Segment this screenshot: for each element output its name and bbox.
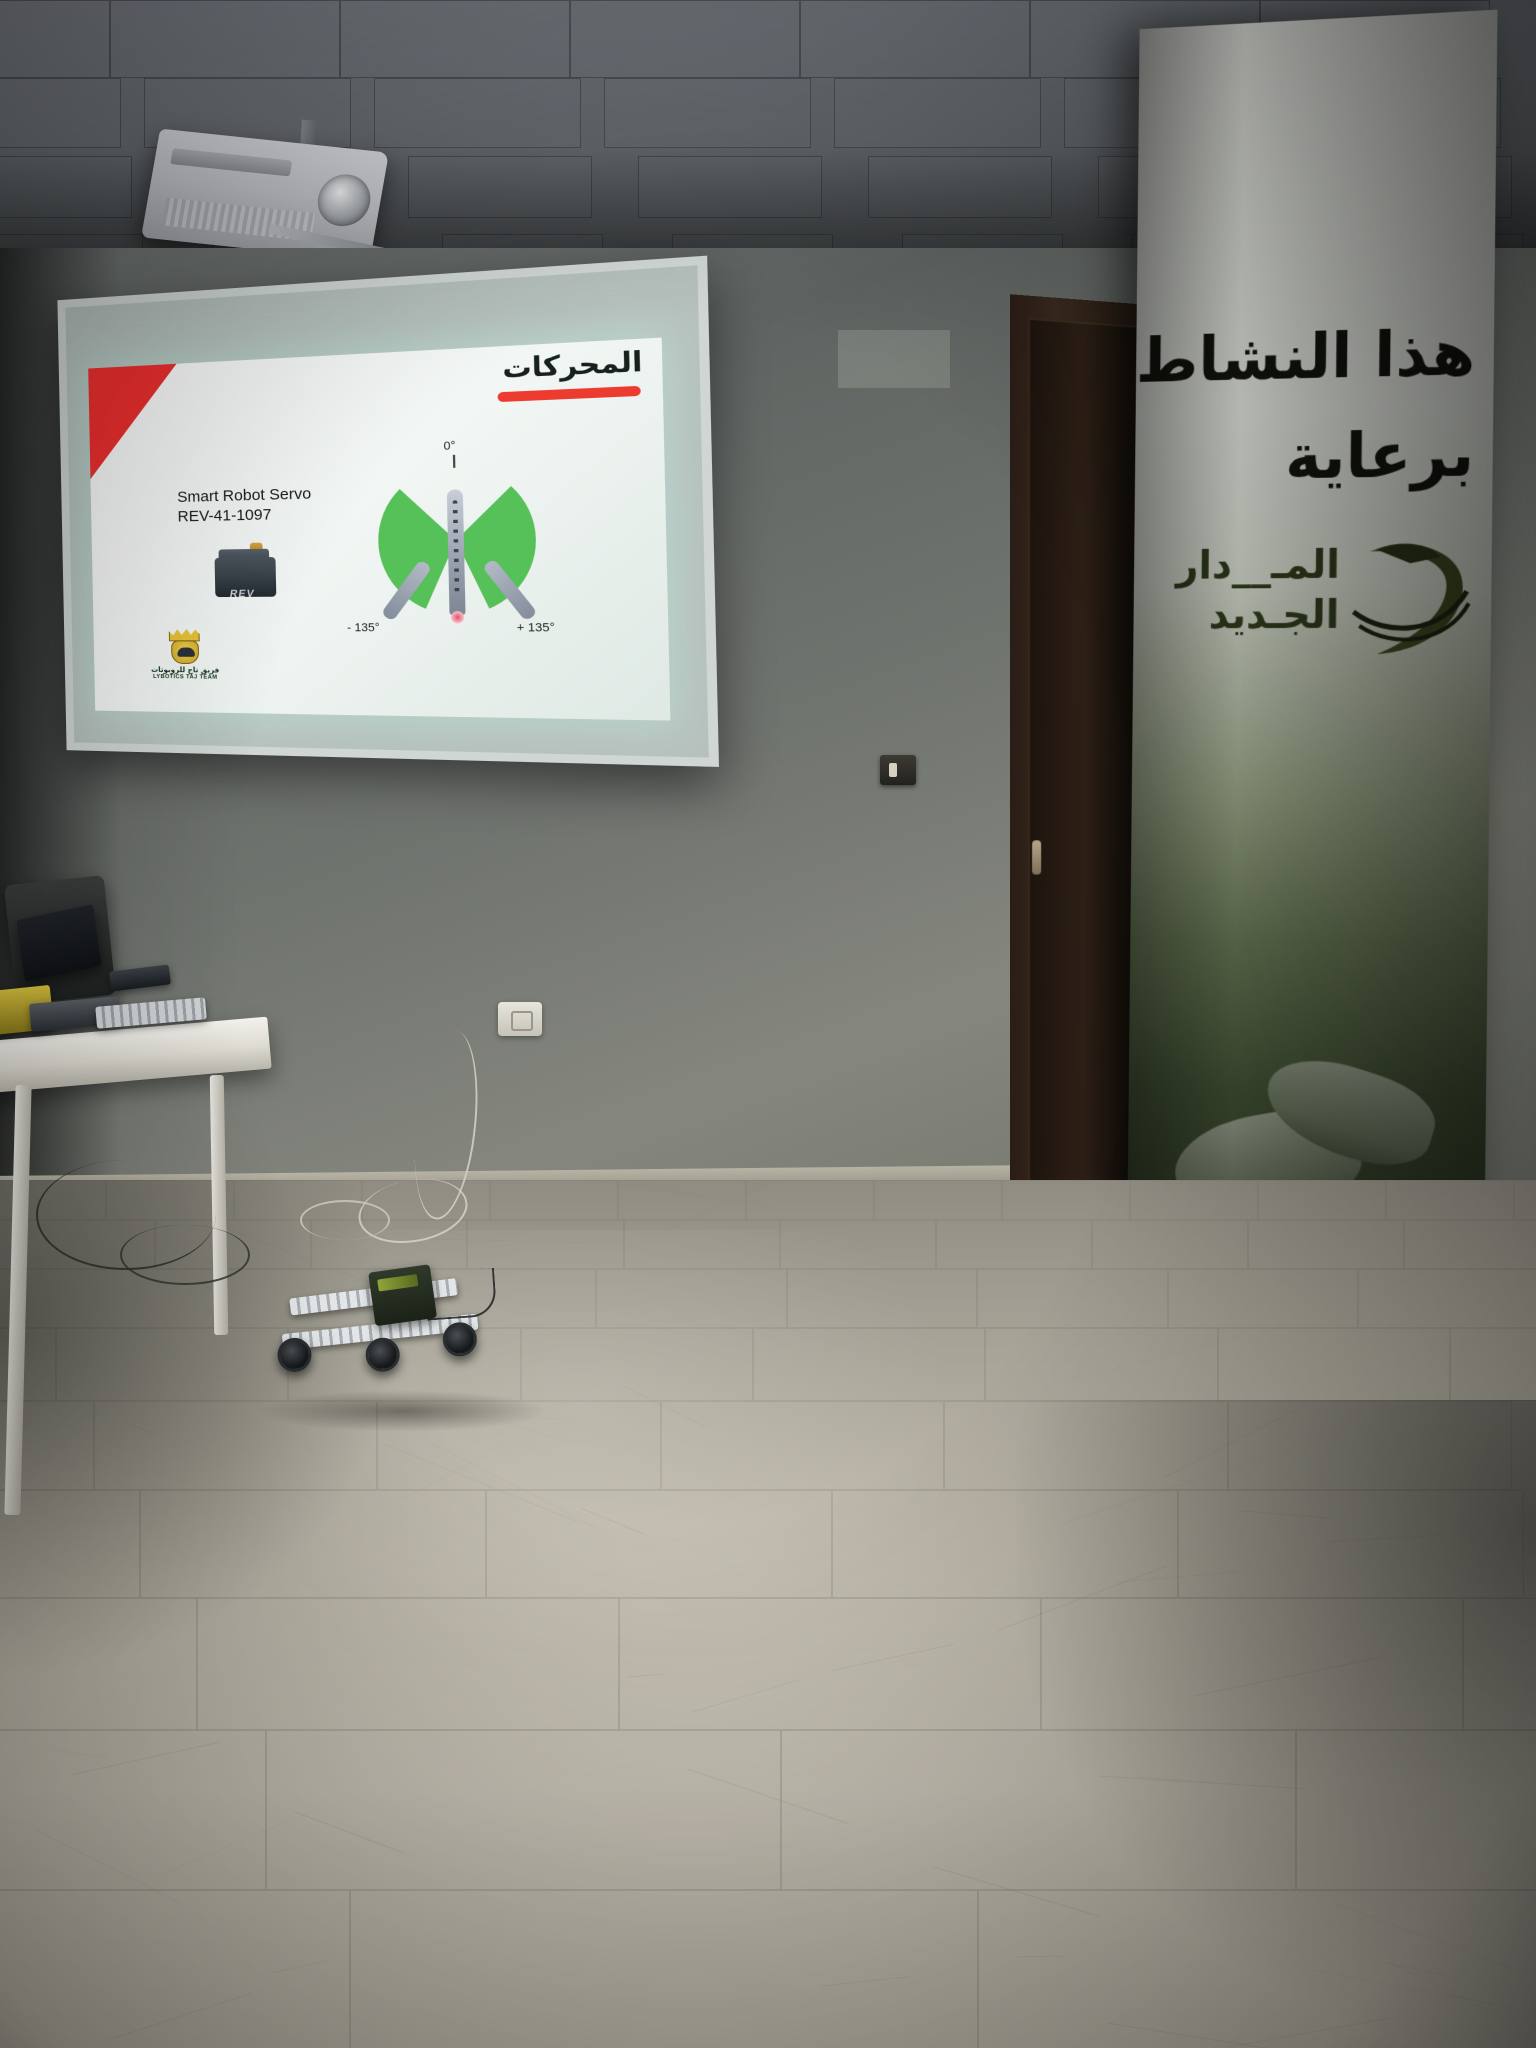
robot-chassis [274,1257,513,1403]
crown-badge-icon [171,640,199,664]
servo-horn-arm [447,489,466,615]
servo-motor-image: REV [208,542,285,603]
sponsor-name: المـ__دار الجـديد [1175,540,1340,640]
angle-label-zero: 0° [443,440,455,453]
banner-headline-line1: هذا النشاط [1136,315,1476,397]
wall-socket-icon [880,755,916,785]
marble-vein [69,1742,220,1776]
marble-vein [693,1679,801,1712]
marble-vein [156,1806,323,1877]
projection-screen: المحركات Smart Robot Servo REV-41-1097 R… [57,256,719,767]
marble-vein [823,1976,909,1986]
ceiling-tile [570,0,800,78]
sponsor-name-line1: المـ__دار [1176,540,1340,591]
sponsor-name-line2: الجـديد [1175,590,1339,640]
ceiling-tile [834,78,1041,148]
team-name-english: LYBOTICS TAJ TEAM [136,674,235,681]
zero-tick-icon [453,455,456,468]
ceiling-tile [110,0,340,78]
marble-vein [293,1811,404,1854]
marble-vein [51,1749,105,1758]
wall-access-plate [838,330,950,388]
swoosh-logo-icon [1349,532,1472,659]
slide-corner-decoration [88,364,179,479]
servo-axis-dot-icon [451,611,465,624]
marble-vein [629,1674,664,1678]
ceiling-tile [374,78,581,148]
servo-product-name: Smart Robot Servo [177,485,311,506]
slide-title-underline [498,386,641,402]
angle-label-negative: - 135° [347,622,380,635]
screen-surface: المحركات Smart Robot Servo REV-41-1097 R… [65,265,708,757]
servo-product-code: REV-41-1097 [177,505,311,527]
ceiling-tile [604,78,811,148]
sponsor-logo-block: المـ__دار الجـديد [1133,538,1492,680]
banner-headline-line2: برعاية [1285,417,1475,494]
floor-shadow-right [1016,1400,1536,2048]
door-panel [1028,318,1139,1274]
ceiling-tile [340,0,570,78]
servo-caption: Smart Robot Servo REV-41-1097 [177,485,312,527]
angle-label-positive: + 135° [517,621,555,634]
marble-vein [1044,1336,1241,1386]
presentation-slide: المحركات Smart Robot Servo REV-41-1097 R… [88,338,670,721]
marble-vein [560,1180,772,1207]
floor-power-outlet [498,1002,542,1036]
floor-cable-loop-2 [300,1200,390,1240]
marble-vein [108,1992,251,2039]
marble-vein [272,1960,328,1973]
ceiling-tile [800,0,1030,78]
servo-body: REV [215,557,277,597]
door-handle-icon[interactable] [1032,840,1041,874]
robot-control-hub [368,1264,437,1326]
slide-title: المحركات [502,345,643,384]
team-logo: فريق تاج للروبوتات LYBOTICS TAJ TEAM [135,628,235,694]
robot-wheel-middle [365,1337,401,1373]
ceiling-tile [0,0,110,78]
servo-range-diagram: 0° - 135° + 135° [348,438,570,659]
marble-vein [38,1831,177,1903]
table-cable-2 [120,1225,250,1285]
servo-brand-label: REV [229,588,256,600]
room-scene: المحركات Smart Robot Servo REV-41-1097 R… [0,0,1536,2048]
marble-vein [687,1769,849,1825]
ceiling-tile [0,78,121,148]
